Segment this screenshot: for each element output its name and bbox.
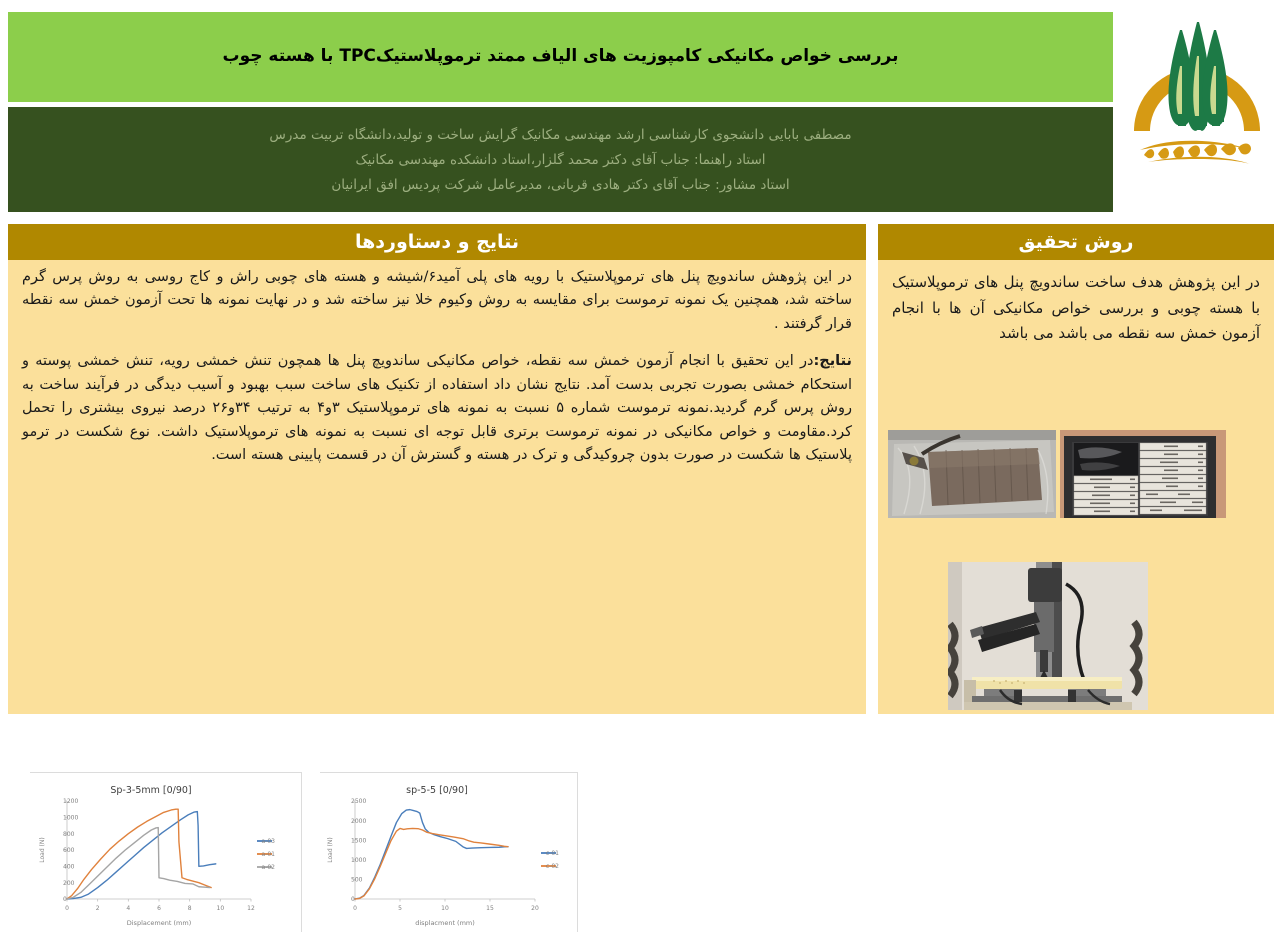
svg-text:a-01: a-01 — [262, 851, 276, 858]
authors-band: مصطفی بابایی دانشجوی کارشناسی ارشد مهندس… — [8, 107, 1113, 212]
svg-text:200: 200 — [63, 880, 75, 887]
svg-text:2000: 2000 — [351, 818, 366, 825]
svg-text:0: 0 — [65, 905, 69, 912]
svg-text:Sp-3-5mm [0/90]: Sp-3-5mm [0/90] — [110, 785, 191, 796]
svg-text:2: 2 — [96, 905, 100, 912]
svg-text:500: 500 — [351, 877, 363, 884]
results-paragraph-2-label: نتایج: — [813, 353, 852, 369]
results-heading: نتایج و دستاوردها — [8, 224, 866, 260]
svg-text:0: 0 — [351, 896, 355, 903]
results-paragraph-1: در این پژوهش ساندویچ پنل های ترموپلاستیک… — [22, 266, 852, 336]
three-point-bending-test-photo — [948, 562, 1148, 710]
method-paragraph: در این پژوهش هدف ساخت ساندویچ پنل های تر… — [892, 270, 1260, 347]
chart-sp-5-5-svg: sp-5-5 [0/90] 05001000150020002500 05101… — [319, 773, 577, 933]
svg-text:15: 15 — [486, 905, 494, 912]
svg-text:0: 0 — [353, 905, 357, 912]
svg-text:1200: 1200 — [63, 798, 78, 805]
chart-sp-3-5mm-svg: Sp-3-5mm [0/90] 020040060080010001200 02… — [29, 773, 301, 933]
svg-text:Load (N): Load (N) — [39, 837, 46, 862]
svg-text:c-02: c-02 — [546, 863, 559, 870]
svg-text:c-01: c-01 — [546, 850, 559, 857]
svg-text:8: 8 — [188, 905, 192, 912]
results-panel: نتایج و دستاوردها در این پژوهش ساندویچ پ… — [8, 224, 866, 714]
page-title: بررسی خواص مکانیکی کامپوزیت های الیاف مم… — [205, 45, 917, 69]
svg-text:5: 5 — [398, 905, 402, 912]
svg-text:400: 400 — [63, 864, 75, 871]
results-paragraph-2: نتایج:در این تحقیق با انجام آزمون خمش سه… — [22, 350, 852, 467]
svg-text:1000: 1000 — [351, 857, 366, 864]
advisor-line: استاد مشاور: جناب آقای دکتر هادی قربانی،… — [331, 177, 789, 193]
chart-sp-3-5mm: Sp-3-5mm [0/90] 020040060080010001200 02… — [30, 772, 302, 932]
photos-row — [888, 430, 1226, 518]
svg-text:6: 6 — [157, 905, 161, 912]
svg-text:20: 20 — [531, 905, 539, 912]
svg-text:Load (N): Load (N) — [327, 837, 334, 862]
svg-text:sp-5-5 [0/90]: sp-5-5 [0/90] — [406, 785, 468, 796]
svg-text:0: 0 — [63, 896, 67, 903]
svg-text:12: 12 — [247, 905, 255, 912]
vacuum-bag-layup-photo — [888, 430, 1056, 518]
svg-text:800: 800 — [63, 831, 75, 838]
supervisor-line: استاد راهنما: جناب آقای دکتر محمد گلزار،… — [355, 152, 765, 168]
svg-text:Displacement (mm): Displacement (mm) — [127, 919, 192, 927]
university-logo — [1118, 4, 1276, 212]
method-heading: روش تحقیق — [878, 224, 1274, 260]
poster-header: بررسی خواص مکانیکی کامپوزیت های الیاف مم… — [0, 0, 1280, 215]
svg-text:10: 10 — [217, 905, 225, 912]
svg-text:4: 4 — [126, 905, 130, 912]
svg-text:1500: 1500 — [351, 837, 366, 844]
svg-text:1000: 1000 — [63, 815, 78, 822]
tarbiat-modares-logo-icon — [1118, 4, 1276, 212]
results-body: در این پژوهش ساندویچ پنل های ترموپلاستیک… — [8, 260, 866, 714]
svg-text:10: 10 — [441, 905, 449, 912]
specimens-tray-photo — [1060, 430, 1226, 518]
svg-text:displacment (mm): displacment (mm) — [415, 919, 475, 927]
poster-root: بررسی خواص مکانیکی کامپوزیت های الیاف مم… — [0, 0, 1280, 720]
svg-text:600: 600 — [63, 847, 75, 854]
author-line: مصطفی بابایی دانشجوی کارشناسی ارشد مهندس… — [269, 127, 851, 143]
chart-sp-5-5: sp-5-5 [0/90] 05001000150020002500 05101… — [320, 772, 578, 932]
results-paragraph-2-text: در این تحقیق با انجام آزمون خمش سه نقطه،… — [22, 353, 852, 463]
charts-row: sp-5-5 [0/90] 05001000150020002500 05101… — [30, 772, 578, 932]
svg-text:a-03: a-03 — [262, 838, 276, 845]
title-band: بررسی خواص مکانیکی کامپوزیت های الیاف مم… — [8, 12, 1113, 102]
svg-text:a-02: a-02 — [262, 864, 276, 871]
svg-text:2500: 2500 — [351, 798, 366, 805]
